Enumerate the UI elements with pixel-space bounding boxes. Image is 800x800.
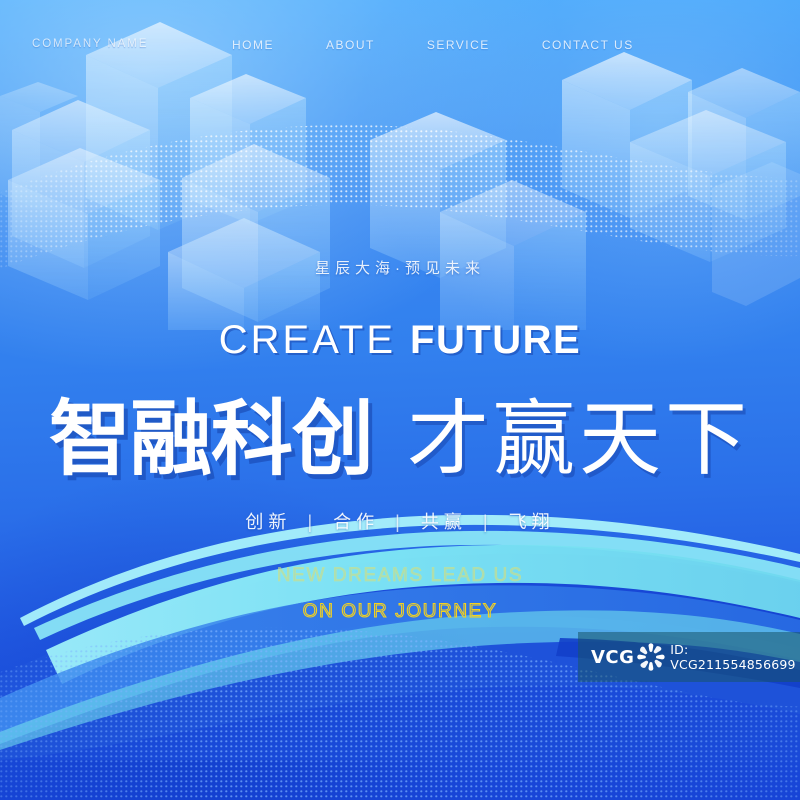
heading-word-future: FUTURE	[410, 318, 581, 362]
journey-line-2: ON OUR JOURNEY	[0, 601, 800, 623]
headline-bold-part: 智融科创	[49, 372, 373, 491]
heading-word-create: CREATE	[219, 318, 396, 362]
hero-tagline-row: 创新 | 合作 | 共赢 | 飞翔	[0, 508, 800, 534]
tagline-separator-1: |	[307, 512, 317, 532]
hero-chinese-subtitle: 星辰大海·预见未来	[0, 257, 800, 278]
tagline-separator-3: |	[483, 512, 493, 532]
tagline-word-3: 共赢	[421, 512, 467, 532]
journey-line-1: NEW DREAMS LEAD US	[0, 565, 800, 587]
journey-slogan: NEW DREAMS LEAD US ON OUR JOURNEY	[0, 565, 800, 623]
tagline-word-1: 创新	[245, 512, 291, 532]
hero-main-headline: 智融科创 才赢天下	[0, 372, 800, 491]
tagline-word-2: 合作	[333, 512, 379, 532]
poster-canvas: COMPANY NAME HOME ABOUT SERVICE CONTACT …	[0, 0, 800, 800]
tagline-separator-2: |	[395, 512, 405, 532]
vcg-flower-icon	[636, 640, 666, 674]
hero-english-heading: CREATEFUTURE	[0, 318, 800, 363]
headline-thin-part: 才赢天下	[407, 372, 751, 491]
tagline-word-4: 飞翔	[509, 512, 555, 532]
vcg-watermark: VCG ID: VCG211554856699	[578, 632, 800, 682]
vcg-brand-label: VCG	[591, 647, 634, 668]
vcg-id-label: ID: VCG211554856699	[670, 642, 800, 672]
